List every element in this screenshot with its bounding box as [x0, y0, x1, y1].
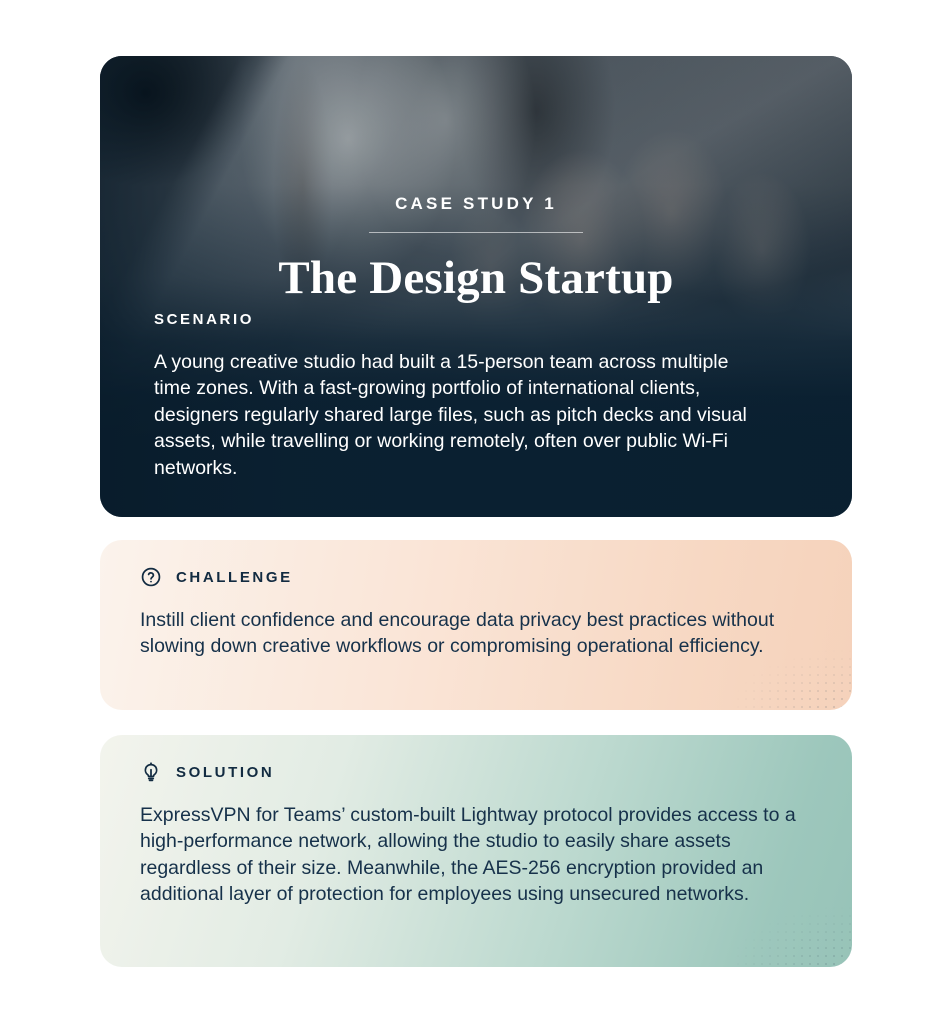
scenario-label: SCENARIO [154, 311, 784, 328]
solution-card: SOLUTION ExpressVPN for Teams’ custom-bu… [100, 735, 852, 967]
hero-divider [369, 232, 583, 233]
challenge-header: CHALLENGE [140, 566, 812, 588]
challenge-label: CHALLENGE [176, 569, 293, 586]
challenge-card: CHALLENGE Instill client confidence and … [100, 540, 852, 710]
scenario-paragraph: A young creative studio had built a 15-p… [154, 349, 769, 481]
case-study-page: CASE STUDY 1 The Design Startup SCENARIO… [0, 0, 952, 1024]
lightbulb-icon [140, 761, 162, 783]
scenario-section: SCENARIO A young creative studio had bui… [154, 311, 784, 481]
hero-card: CASE STUDY 1 The Design Startup SCENARIO… [100, 56, 852, 517]
case-study-eyebrow: CASE STUDY 1 [100, 194, 852, 214]
solution-label: SOLUTION [176, 764, 274, 781]
solution-card-content: SOLUTION ExpressVPN for Teams’ custom-bu… [140, 761, 812, 908]
challenge-card-content: CHALLENGE Instill client confidence and … [140, 566, 812, 660]
page-title: The Design Startup [100, 251, 852, 305]
challenge-paragraph: Instill client confidence and encourage … [140, 607, 812, 660]
solution-header: SOLUTION [140, 761, 812, 783]
hero-content: CASE STUDY 1 The Design Startup SCENARIO… [100, 56, 852, 517]
question-mark-circle-icon [140, 566, 162, 588]
solution-paragraph: ExpressVPN for Teams’ custom-built Light… [140, 802, 812, 908]
